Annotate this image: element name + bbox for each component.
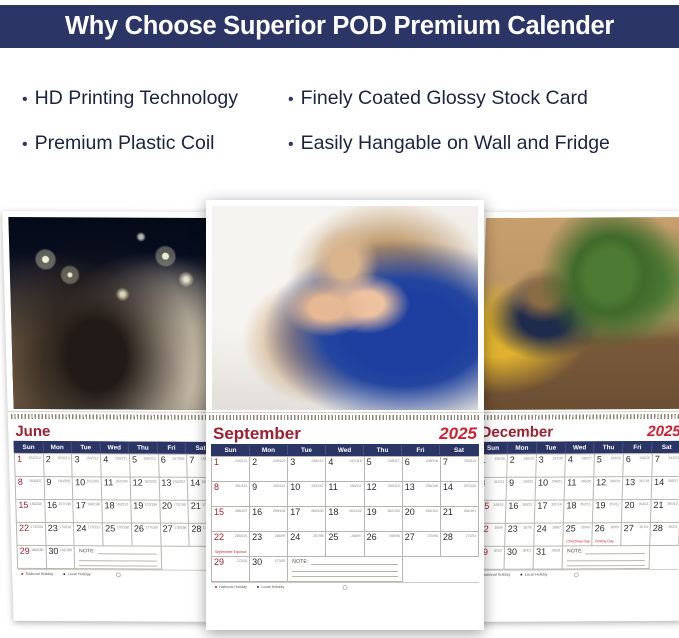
date-cell: 16350/15 <box>506 501 536 524</box>
weekday-label: Sun <box>212 445 250 455</box>
date-cell: 19353/12 <box>593 500 623 523</box>
date-cell: 25268/97 <box>326 532 364 557</box>
day-of-year: 270/95 <box>427 534 437 538</box>
date-cell: 23266/99 <box>250 532 288 557</box>
date-cell: 9252/113 <box>250 482 288 507</box>
day-of-year: 335/30 <box>494 457 505 461</box>
bullet-icon: • <box>22 137 28 153</box>
day-of-year: 341/24 <box>668 456 679 460</box>
date-cell: 25359/6Christmas Day <box>563 524 593 547</box>
calendar-center: September 2025 SunMonTueWedThuFriSat 124… <box>206 200 484 630</box>
weekday-label: Thu <box>364 445 402 455</box>
hanging-hole-icon <box>343 585 348 590</box>
weekday-label: Tue <box>72 442 101 452</box>
date-cell: 10161/205 <box>73 477 102 500</box>
date-cell: 28271/94 <box>441 532 479 557</box>
weekday-label: Wed <box>100 442 129 452</box>
date-cell: 6157/209 <box>159 455 188 478</box>
date-cell: 24267/98 <box>288 532 326 557</box>
day-of-year: 169/197 <box>116 503 128 507</box>
weekday-label: Thu <box>594 442 623 452</box>
note-line <box>567 561 645 567</box>
note-label: NOTE: <box>567 549 583 555</box>
day-of-year: 267/98 <box>313 534 323 538</box>
day-of-year: 244/121 <box>235 459 247 463</box>
date-cell: 10253/112 <box>288 482 326 507</box>
feature-label: Premium Plastic Coil <box>35 132 215 155</box>
coil-binding <box>8 411 220 421</box>
weekday-label: Fri <box>158 443 187 453</box>
date-cell: 17351/14 <box>535 501 565 524</box>
calendar-right-sheet: December 2025 SunMonTueWedThuFriSat 1335… <box>469 420 679 580</box>
calendar-center-header: September 2025 <box>211 424 479 444</box>
date-cell: 30273/92 <box>250 557 288 582</box>
date-cell: 5248/117 <box>365 457 403 482</box>
date-cell: 25176/190 <box>103 524 132 547</box>
day-of-year: 255/110 <box>388 484 400 488</box>
note-lines <box>567 555 645 566</box>
calendar-center-sheet: September 2025 SunMonTueWedThuFriSat 124… <box>206 421 484 592</box>
weekday-label: Sat <box>652 442 679 452</box>
legend-right: National Holiday Local Holiday <box>474 569 678 580</box>
day-of-year: 260/105 <box>311 509 323 513</box>
calendar-left: June SunMonTueWedThuFriSat 1152/2142153/… <box>2 211 226 622</box>
day-of-year: 253/112 <box>311 484 323 488</box>
month-label: September <box>213 425 301 442</box>
day-of-year: 259/106 <box>273 509 285 513</box>
date-cell: 18261/104 <box>326 507 364 532</box>
date-cell: 26177/189 <box>132 524 161 547</box>
legend-local: Local Holiday <box>520 573 547 577</box>
day-of-year: 167/199 <box>58 502 70 506</box>
weekday-header-center: SunMonTueWedThuFriSat <box>211 444 479 456</box>
note-label: NOTE: <box>292 559 308 565</box>
day-of-year: 351/14 <box>551 503 562 507</box>
calendar-left-photo-panel <box>2 211 220 412</box>
day-of-year: 361/4 <box>639 525 648 529</box>
date-cell: 10344/21 <box>536 478 566 501</box>
date-cell: 27270/95 <box>403 532 441 557</box>
date-cell: 4155/211 <box>101 455 130 478</box>
date-cell: 14257/108 <box>441 482 479 507</box>
note-lines <box>79 555 156 566</box>
day-of-year: 170/196 <box>145 503 157 507</box>
feature-item-1: • HD Printing Technology <box>22 87 238 110</box>
date-cell: 14348/17 <box>652 477 679 500</box>
date-cell: 26360/5Boxing Day <box>592 523 622 546</box>
weekday-label: Sat <box>440 445 478 455</box>
day-of-year: 180/186 <box>31 548 43 552</box>
date-cell: 4338/27 <box>565 455 595 478</box>
day-of-year: 355/10 <box>667 502 678 506</box>
day-of-year: 337/28 <box>552 457 563 461</box>
day-of-year: 271/94 <box>466 534 476 538</box>
day-of-year: 181/185 <box>60 548 72 552</box>
date-cell: 6340/25 <box>623 454 653 477</box>
date-cell: 11345/20 <box>565 478 595 501</box>
day-of-year: 257/108 <box>464 484 476 488</box>
note-line <box>97 549 156 554</box>
holiday-note: September Equinox <box>215 550 247 554</box>
date-cell: 1244/121 <box>212 457 250 482</box>
day-of-year: 363/2 <box>493 549 502 553</box>
day-of-year: 162/204 <box>115 480 127 484</box>
weekday-label: Fri <box>623 442 652 452</box>
year-label: 2025 <box>439 425 477 442</box>
day-of-year: 261/104 <box>349 509 361 513</box>
legend-local: Local Holiday <box>257 585 284 589</box>
hanging-hole-icon <box>574 572 579 577</box>
feature-label: HD Printing Technology <box>35 87 238 110</box>
day-of-year: 159/207 <box>29 479 41 483</box>
day-of-year: 173/193 <box>30 525 42 529</box>
day-of-year: 246/119 <box>311 459 323 463</box>
note-box: NOTE: <box>563 546 651 569</box>
day-of-year: 156/210 <box>143 457 155 461</box>
day-of-year: 346/19 <box>610 479 621 483</box>
date-cell: 30181/185 <box>46 546 75 569</box>
weekday-label: Tue <box>537 443 566 453</box>
date-cell: 19170/196 <box>131 501 160 524</box>
day-of-year: 154/212 <box>86 456 98 460</box>
day-of-year: 176/190 <box>117 526 129 530</box>
date-cell: 20171/195 <box>160 501 189 524</box>
date-cell: 29180/186 <box>18 546 47 569</box>
day-of-year: 364/1 <box>522 549 531 553</box>
date-cell: 19262/103 <box>365 507 403 532</box>
date-cell: 5339/26 <box>594 454 624 477</box>
day-of-year: 245/120 <box>273 459 285 463</box>
hanging-hole-icon <box>116 572 121 577</box>
day-of-year: 348/17 <box>668 479 679 483</box>
note-lines <box>292 566 397 577</box>
day-of-year: 174/192 <box>59 525 71 529</box>
calendar-left-sheet: June SunMonTueWedThuFriSat 1152/2142153/… <box>8 420 225 580</box>
day-of-year: 166/200 <box>30 502 42 506</box>
day-of-year: 252/113 <box>273 484 285 488</box>
note-line <box>292 572 397 578</box>
day-of-year: 161/205 <box>87 479 99 483</box>
date-cell: 7250/115 <box>441 457 479 482</box>
coil-binding <box>206 412 484 421</box>
day-of-year: 365/0 <box>552 549 561 553</box>
date-cell: 12163/203 <box>131 478 160 501</box>
date-cell: 22265/100September Equinox <box>212 532 250 557</box>
day-of-year: 344/21 <box>552 480 563 484</box>
wedding-sparklers-photo <box>8 217 213 410</box>
two-women-on-bed-photo <box>212 206 478 410</box>
calendar-right: December 2025 SunMonTueWedThuFriSat 1335… <box>468 211 679 622</box>
date-cell: 27178/188 <box>161 524 190 547</box>
weekday-label: Wed <box>326 445 364 455</box>
date-cell: 2153/213 <box>44 454 73 477</box>
day-of-year: 273/92 <box>275 559 285 563</box>
date-cell: 30364/1 <box>504 547 534 570</box>
date-cell: 3246/119 <box>288 457 326 482</box>
header-banner: Why Choose Superior POD Premium Calender <box>0 5 679 48</box>
date-cell: 12346/19 <box>594 477 624 500</box>
date-cell: 24175/191 <box>74 523 103 546</box>
holiday-note: Boxing Day <box>595 539 614 544</box>
day-of-year: 350/15 <box>522 503 533 507</box>
year-label: 2025 <box>647 424 679 439</box>
weekday-header-right: SunMonTueWedThuFriSat <box>478 441 679 454</box>
date-cell: 24358/7 <box>534 524 564 547</box>
day-of-year: 247/118 <box>350 459 362 463</box>
day-of-year: 160/206 <box>58 479 70 483</box>
date-cell: 16167/199 <box>45 500 74 523</box>
date-grid-center: 1244/1212245/1203246/1194247/1185248/117… <box>211 456 479 582</box>
weekday-label: Mon <box>43 442 72 452</box>
day-of-year: 254/111 <box>350 484 362 488</box>
feature-label: Easily Hangable on Wall and Fridge <box>301 132 610 155</box>
date-cell: 22173/193 <box>17 523 46 546</box>
day-of-year: 248/117 <box>388 459 400 463</box>
day-of-year: 357/8 <box>523 526 532 530</box>
feature-item-4: • Easily Hangable on Wall and Fridge <box>288 132 610 155</box>
day-of-year: 155/211 <box>115 457 127 461</box>
weekday-label: Wed <box>566 442 595 452</box>
day-of-year: 256/109 <box>426 484 438 488</box>
day-of-year: 342/23 <box>494 480 505 484</box>
date-cell: 18352/13 <box>564 501 594 524</box>
date-cell: 9160/206 <box>44 477 73 500</box>
date-cell: 8159/207 <box>16 477 45 500</box>
date-cell: 23357/8 <box>505 524 535 547</box>
day-of-year: 178/188 <box>174 526 186 530</box>
date-cell: 1152/214 <box>15 454 44 477</box>
day-of-year: 164/202 <box>173 480 185 484</box>
date-cell: 23174/192 <box>46 523 75 546</box>
date-cell: 13347/18 <box>623 477 653 500</box>
date-cell: 28362/3 <box>650 523 679 546</box>
date-cell: 17260/105 <box>288 507 326 532</box>
day-of-year: 345/20 <box>581 480 592 484</box>
day-of-year: 362/3 <box>668 525 677 529</box>
day-of-year: 171/195 <box>173 503 185 507</box>
date-cell: 11162/204 <box>102 478 131 501</box>
date-cell: 17168/198 <box>74 500 103 523</box>
legend-national: National Holiday <box>215 585 247 589</box>
weekday-label: Thu <box>129 443 158 453</box>
toddler-with-wreath-photo <box>480 217 679 410</box>
bullet-icon: • <box>22 92 28 108</box>
date-cell: 8251/114 <box>212 482 250 507</box>
day-of-year: 168/198 <box>87 502 99 506</box>
note-box: NOTE: <box>75 546 162 569</box>
date-grid-right: 1335/302336/293337/284338/275339/266340/… <box>474 453 679 570</box>
weekday-header-left: SunMonTueWedThuFriSat <box>14 441 216 454</box>
legend-center: National Holiday Local Holiday <box>211 582 479 592</box>
day-of-year: 358/7 <box>552 526 561 530</box>
legend-left: National Holiday Local Holiday <box>17 569 219 580</box>
day-of-year: 339/26 <box>610 456 621 460</box>
day-of-year: 343/22 <box>523 480 534 484</box>
date-cell: 29272/93 <box>212 557 250 582</box>
day-of-year: 340/25 <box>639 456 650 460</box>
legend-national: National Holiday <box>21 572 53 576</box>
date-cell: 13256/109 <box>403 482 441 507</box>
date-cell: 16259/106 <box>250 507 288 532</box>
day-of-year: 359/6 <box>581 526 590 530</box>
date-cell: 21264/101 <box>441 507 479 532</box>
date-cell: 9343/22 <box>507 478 537 501</box>
day-of-year: 269/96 <box>389 534 399 538</box>
date-cell: 4247/118 <box>326 457 364 482</box>
day-of-year: 250/115 <box>464 459 476 463</box>
feature-list: • HD Printing Technology • Finely Coated… <box>0 72 679 177</box>
day-of-year: 338/27 <box>581 457 592 461</box>
date-cell: 7341/24 <box>652 454 679 477</box>
date-cell: 5156/210 <box>130 455 159 478</box>
date-grid-left: 1152/2142153/2133154/2124155/2115156/210… <box>14 453 219 570</box>
day-of-year: 264/101 <box>464 509 476 513</box>
day-of-year: 336/29 <box>523 457 534 461</box>
day-of-year: 251/114 <box>235 484 247 488</box>
note-line <box>311 560 398 565</box>
date-cell: 6249/116 <box>403 457 441 482</box>
note-label: NOTE: <box>79 548 95 554</box>
calendar-right-header: December 2025 <box>478 423 679 442</box>
day-of-year: 360/5 <box>610 525 619 529</box>
month-label: June <box>15 424 50 439</box>
day-of-year: 266/99 <box>275 534 285 538</box>
month-label: December <box>480 425 553 440</box>
day-of-year: 258/107 <box>235 509 247 513</box>
note-line <box>585 549 645 554</box>
date-cell: 18169/197 <box>102 501 131 524</box>
date-cell: 2336/29 <box>507 455 537 478</box>
date-cell: 31365/0 <box>533 547 563 570</box>
weekday-label: Tue <box>288 445 326 455</box>
day-of-year: 152/214 <box>28 456 40 460</box>
date-cell: 15258/107 <box>212 507 250 532</box>
holiday-note: Christmas Day <box>566 539 590 544</box>
date-cell: 20263/102 <box>403 507 441 532</box>
bullet-icon: • <box>288 137 294 153</box>
day-of-year: 249/116 <box>426 459 438 463</box>
day-of-year: 353/12 <box>609 502 620 506</box>
date-cell: 13164/202 <box>159 478 188 501</box>
date-cell: 11254/111 <box>326 482 364 507</box>
date-cell: 3337/28 <box>536 455 566 478</box>
note-box: NOTE: <box>288 557 402 582</box>
day-of-year: 349/16 <box>493 503 504 507</box>
feature-item-3: • Premium Plastic Coil <box>22 132 214 155</box>
day-of-year: 354/11 <box>638 502 648 506</box>
date-cell: 27361/4 <box>621 523 651 546</box>
weekday-label: Mon <box>250 445 288 455</box>
day-of-year: 352/13 <box>580 503 591 507</box>
weekday-label: Sun <box>15 442 44 452</box>
date-cell: 26269/96 <box>365 532 403 557</box>
calendar-left-header: June <box>13 423 216 442</box>
legend-local: Local Holiday <box>63 572 90 576</box>
bullet-icon: • <box>288 92 294 108</box>
day-of-year: 262/103 <box>387 509 399 513</box>
coil-binding <box>474 411 679 421</box>
day-of-year: 265/100 <box>235 534 247 538</box>
date-cell: 20354/11 <box>622 500 652 523</box>
product-feature-image: Why Choose Superior POD Premium Calender… <box>0 0 679 638</box>
feature-label: Finely Coated Glossy Stock Card <box>301 87 588 110</box>
date-cell: 2245/120 <box>250 457 288 482</box>
date-cell: 21355/10 <box>651 500 679 523</box>
calendar-center-photo-panel <box>206 200 484 412</box>
calendar-right-photo-panel <box>474 211 679 412</box>
date-cell: 15166/200 <box>16 500 45 523</box>
day-of-year: 347/18 <box>639 479 650 483</box>
weekday-label: Fri <box>402 445 440 455</box>
feature-item-2: • Finely Coated Glossy Stock Card <box>288 87 588 110</box>
day-of-year: 272/93 <box>237 559 247 563</box>
day-of-year: 268/97 <box>351 534 361 538</box>
day-of-year: 157/209 <box>172 457 184 461</box>
note-line <box>79 561 156 567</box>
day-of-year: 263/102 <box>426 509 438 513</box>
day-of-year: 356/9 <box>494 526 503 530</box>
day-of-year: 177/189 <box>145 526 157 530</box>
day-of-year: 153/213 <box>57 456 69 460</box>
day-of-year: 175/191 <box>88 525 100 529</box>
weekday-label: Mon <box>508 443 537 453</box>
day-of-year: 163/203 <box>144 480 156 484</box>
page-title: Why Choose Superior POD Premium Calender <box>65 12 614 41</box>
date-cell: 3154/212 <box>72 454 101 477</box>
date-cell: 12255/110 <box>365 482 403 507</box>
